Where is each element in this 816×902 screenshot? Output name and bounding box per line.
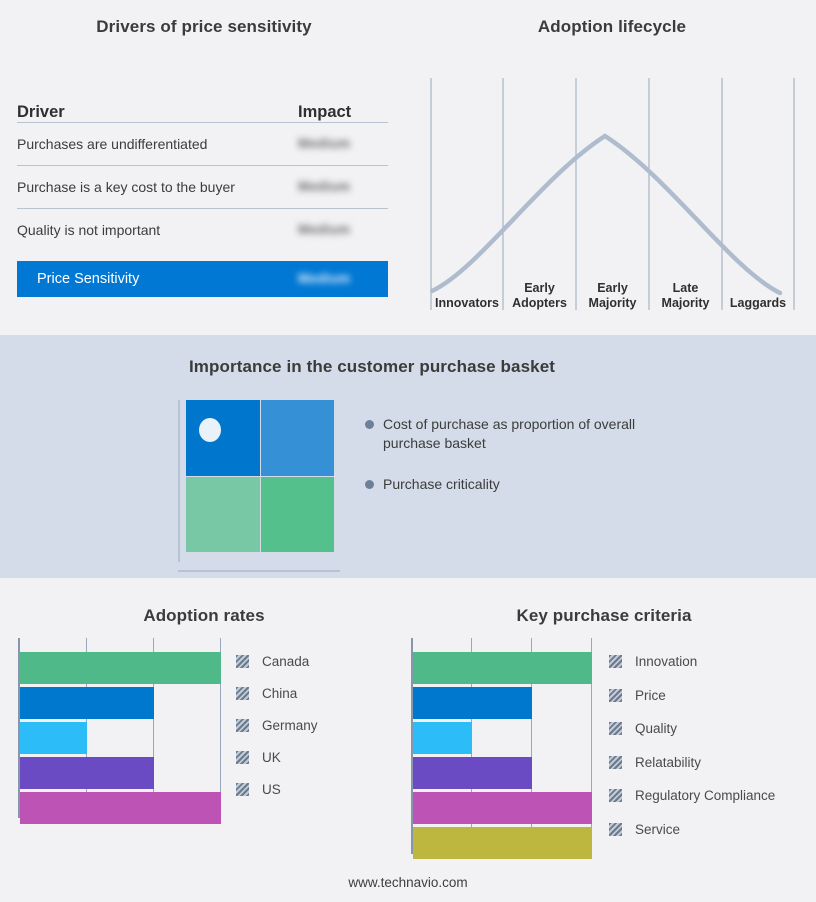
lifecycle-segment-late-majority: Late Majority bbox=[649, 281, 722, 310]
bar-relatability bbox=[413, 757, 532, 789]
legend-label: UK bbox=[262, 750, 281, 765]
bar-service bbox=[413, 827, 592, 859]
hatched-swatch-icon bbox=[609, 655, 622, 668]
price-sensitivity-impact: Medium bbox=[298, 270, 388, 288]
legend-item-service: Service bbox=[609, 813, 809, 847]
bottom-section: Adoption rates Canada bbox=[0, 578, 816, 902]
hatched-swatch-icon bbox=[609, 722, 622, 735]
impact-value-text: Medium bbox=[298, 136, 350, 151]
column-header-driver: Driver bbox=[17, 103, 298, 122]
column-header-impact: Impact bbox=[298, 103, 388, 122]
legend-item-purchase-criticality: Purchase criticality bbox=[365, 475, 685, 494]
purchase-criteria-plot-area bbox=[411, 638, 594, 854]
hatched-swatch-icon bbox=[609, 789, 622, 802]
adoption-rates-plot-area bbox=[18, 638, 221, 818]
matrix-y-axis bbox=[178, 400, 180, 562]
legend-label: Service bbox=[635, 822, 680, 837]
top-section: Drivers of price sensitivity Driver Impa… bbox=[0, 0, 816, 335]
hatched-swatch-icon bbox=[236, 719, 249, 732]
impact-value-text: Medium bbox=[298, 179, 350, 194]
table-row: Purchases are undifferentiated Medium bbox=[17, 123, 388, 165]
legend-item-china: China bbox=[236, 677, 396, 709]
bar-china bbox=[20, 687, 154, 719]
adoption-rates-panel: Adoption rates Canada bbox=[0, 578, 408, 902]
infographic-page: Drivers of price sensitivity Driver Impa… bbox=[0, 0, 816, 902]
purchase-criteria-legend: Innovation Price Quality Relatability Re… bbox=[609, 645, 809, 846]
hatched-swatch-icon bbox=[236, 655, 249, 668]
footer-url: www.technavio.com bbox=[0, 875, 816, 890]
purchase-criteria-panel: Key purchase criteria bbox=[400, 578, 816, 902]
legend-item-germany: Germany bbox=[236, 709, 396, 741]
legend-item-relatability: Relatability bbox=[609, 746, 809, 780]
drivers-table-header: Driver Impact bbox=[17, 90, 388, 122]
lifecycle-panel: Adoption lifecycle Innovators Ea bbox=[408, 0, 816, 335]
drivers-panel-title: Drivers of price sensitivity bbox=[0, 17, 408, 37]
impact-value: Medium bbox=[298, 221, 388, 239]
purchase-basket-section: Importance in the customer purchase bask… bbox=[0, 335, 816, 578]
impact-value-text: Medium bbox=[298, 222, 350, 237]
hatched-swatch-icon bbox=[609, 689, 622, 702]
legend-item-us: US bbox=[236, 773, 396, 805]
bullet-icon bbox=[365, 420, 374, 429]
legend-item-price: Price bbox=[609, 679, 809, 713]
price-sensitivity-impact-text: Medium bbox=[298, 271, 350, 286]
legend-label: Regulatory Compliance bbox=[635, 788, 775, 803]
table-row: Quality is not important Medium bbox=[17, 209, 388, 251]
bar-quality bbox=[413, 722, 472, 754]
legend-label: Innovation bbox=[635, 654, 697, 669]
bar-regulatory-compliance bbox=[413, 792, 592, 824]
driver-label: Quality is not important bbox=[17, 222, 298, 238]
legend-label: Cost of purchase as proportion of overal… bbox=[383, 415, 643, 453]
adoption-rates-title: Adoption rates bbox=[0, 606, 408, 626]
bar-innovation bbox=[413, 652, 592, 684]
lifecycle-panel-title: Adoption lifecycle bbox=[408, 17, 816, 37]
legend-label: US bbox=[262, 782, 281, 797]
legend-label: China bbox=[262, 686, 297, 701]
legend-label: Canada bbox=[262, 654, 309, 669]
bar-canada bbox=[20, 652, 221, 684]
bar-uk bbox=[20, 757, 154, 789]
matrix-quadrant-top-left bbox=[186, 400, 260, 476]
lifecycle-segment-early-adopters: Early Adopters bbox=[503, 281, 576, 310]
bullet-icon bbox=[365, 480, 374, 489]
purchase-criteria-title: Key purchase criteria bbox=[400, 606, 808, 626]
matrix-quadrant-bottom-left bbox=[186, 477, 260, 553]
legend-label: Quality bbox=[635, 721, 677, 736]
legend-label: Purchase criticality bbox=[383, 475, 500, 494]
hatched-swatch-icon bbox=[236, 751, 249, 764]
matrix-position-dot bbox=[199, 418, 221, 442]
legend-label: Price bbox=[635, 688, 666, 703]
hatched-swatch-icon bbox=[609, 823, 622, 836]
adoption-rates-chart bbox=[18, 638, 221, 818]
purchase-basket-matrix bbox=[178, 400, 340, 562]
legend-item-regulatory-compliance: Regulatory Compliance bbox=[609, 779, 809, 813]
legend-item-cost-of-purchase: Cost of purchase as proportion of overal… bbox=[365, 415, 685, 453]
driver-label: Purchase is a key cost to the buyer bbox=[17, 179, 298, 195]
price-sensitivity-label: Price Sensitivity bbox=[37, 271, 298, 287]
impact-value: Medium bbox=[298, 135, 388, 153]
legend-item-uk: UK bbox=[236, 741, 396, 773]
purchase-basket-legend: Cost of purchase as proportion of overal… bbox=[365, 415, 685, 516]
hatched-swatch-icon bbox=[609, 756, 622, 769]
driver-label: Purchases are undifferentiated bbox=[17, 136, 298, 152]
drivers-panel: Drivers of price sensitivity Driver Impa… bbox=[0, 0, 408, 335]
lifecycle-segment-innovators: Innovators bbox=[431, 296, 503, 311]
hatched-swatch-icon bbox=[236, 783, 249, 796]
legend-item-quality: Quality bbox=[609, 712, 809, 746]
bar-germany bbox=[20, 722, 87, 754]
lifecycle-segment-early-majority: Early Majority bbox=[576, 281, 649, 310]
purchase-criteria-chart bbox=[411, 638, 594, 854]
legend-label: Germany bbox=[262, 718, 318, 733]
legend-item-canada: Canada bbox=[236, 645, 396, 677]
lifecycle-segment-laggards: Laggards bbox=[722, 296, 794, 311]
bar-us bbox=[20, 792, 221, 824]
drivers-table: Driver Impact Purchases are undifferenti… bbox=[17, 90, 388, 297]
matrix-quadrant-bottom-right bbox=[261, 477, 335, 553]
price-sensitivity-summary-row: Price Sensitivity Medium bbox=[17, 261, 388, 297]
impact-value: Medium bbox=[298, 178, 388, 196]
lifecycle-segment-labels: Innovators Early Adopters Early Majority… bbox=[430, 260, 796, 310]
hatched-swatch-icon bbox=[236, 687, 249, 700]
legend-item-innovation: Innovation bbox=[609, 645, 809, 679]
legend-label: Relatability bbox=[635, 755, 701, 770]
purchase-basket-title: Importance in the customer purchase bask… bbox=[0, 357, 744, 377]
matrix-quadrant-top-right bbox=[261, 400, 335, 476]
adoption-rates-legend: Canada China Germany UK US bbox=[236, 645, 396, 805]
bar-price bbox=[413, 687, 532, 719]
table-row: Purchase is a key cost to the buyer Medi… bbox=[17, 166, 388, 208]
matrix-x-axis bbox=[178, 570, 340, 572]
